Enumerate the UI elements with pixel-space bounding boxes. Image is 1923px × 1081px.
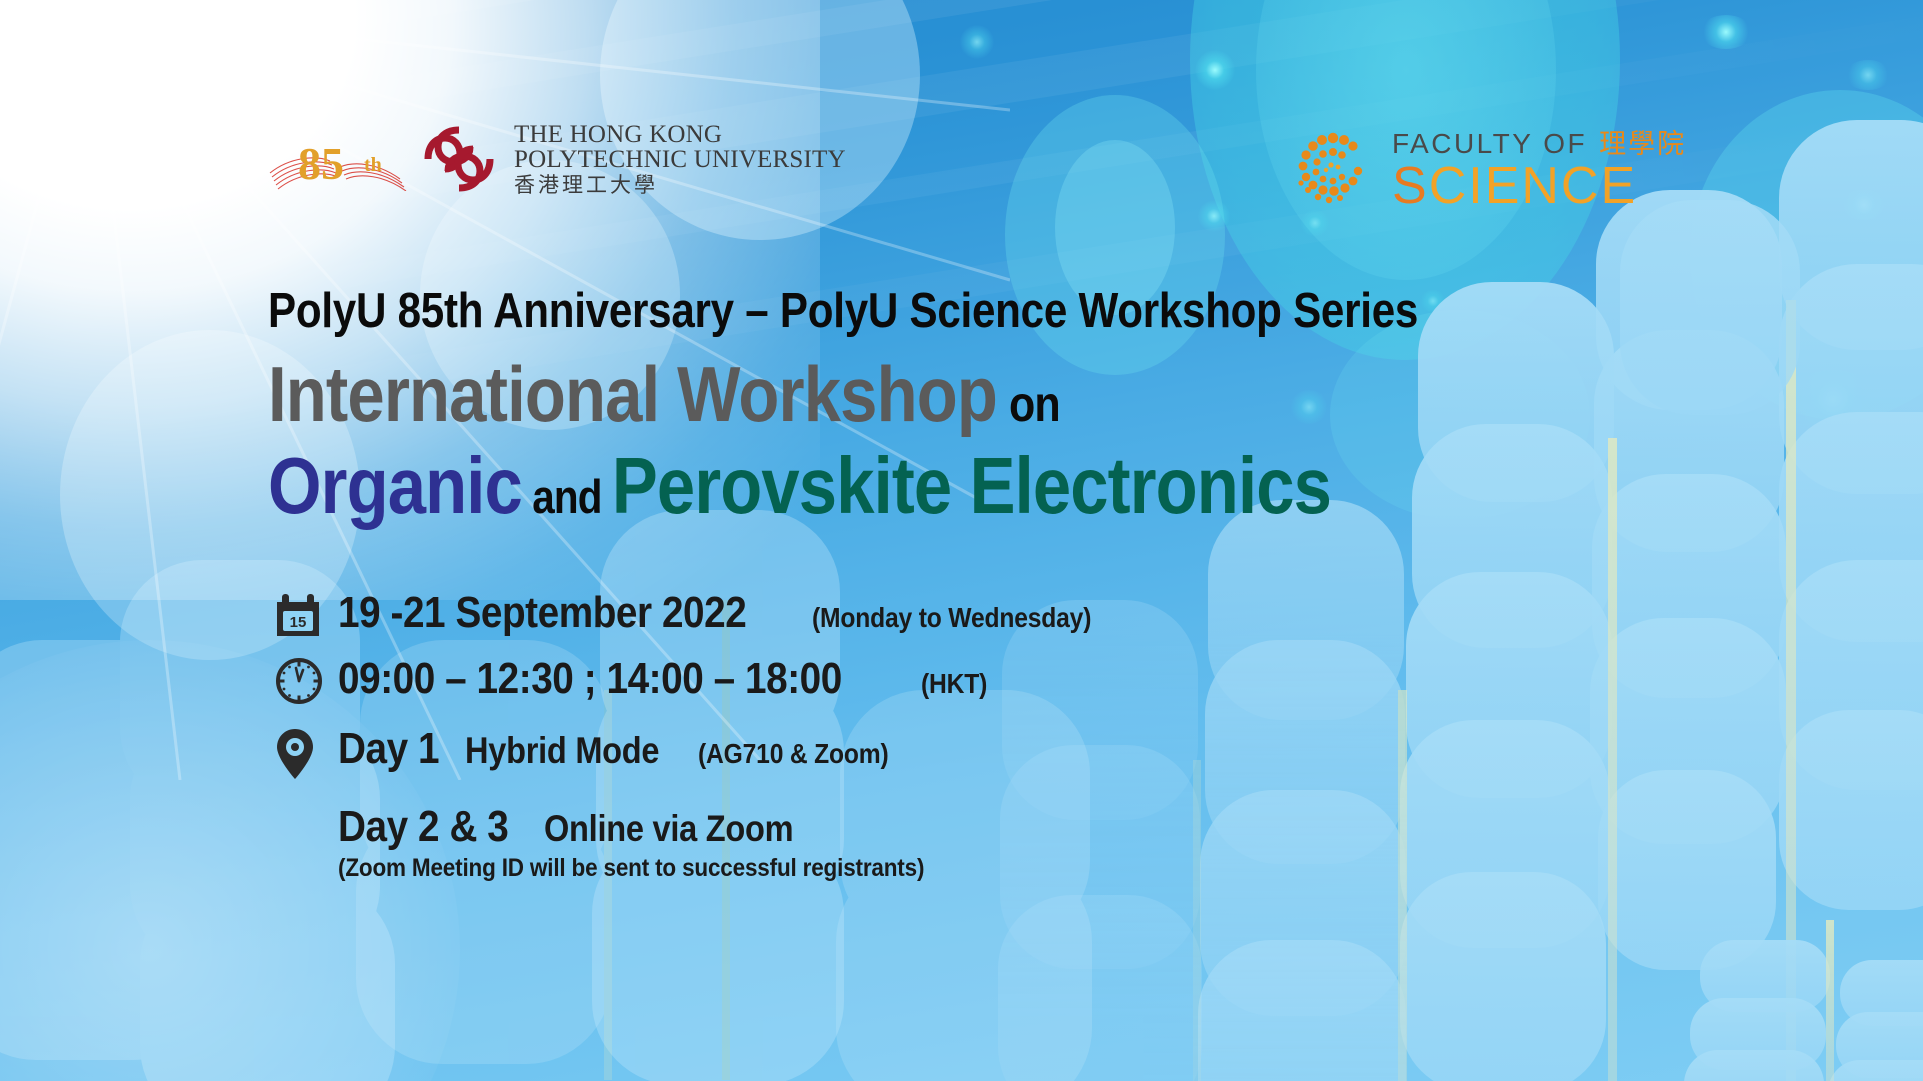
date-note: (Monday to Wednesday): [812, 602, 1091, 634]
time-note: (HKT): [921, 668, 987, 700]
polyu-knot-icon: [420, 123, 498, 195]
title-international-workshop: International Workshop: [268, 350, 997, 438]
workshop-title-line1: International Workshopon: [268, 349, 1060, 440]
time-value: 09:00 – 12:30 ; 14:00 – 18:00: [338, 654, 842, 704]
calendar-icon-wrap: 15: [276, 588, 338, 638]
venue-day23-note: (Zoom Meeting ID will be sent to success…: [338, 854, 924, 883]
venue-day23-note-text: (Zoom Meeting ID will be sent to success…: [338, 854, 989, 883]
location-icon-wrap: [276, 724, 338, 780]
title-on-word: on: [1009, 376, 1060, 432]
title-perovskite-electronics: Perovskite Electronics: [612, 441, 1331, 530]
polyu-name-line2: POLYTECHNIC UNIVERSITY: [514, 147, 846, 172]
polyu-name-line1: THE HONG KONG: [514, 122, 846, 147]
venue-day1-text: Day 1Hybrid Mode(AG710 & Zoom): [338, 724, 914, 774]
event-series-kicker: PolyU 85th Anniversary – PolyU Science W…: [268, 283, 1472, 339]
venue-day1-note: (AG710 & Zoom): [698, 738, 889, 770]
poster-canvas: 85 th THE HONG KONG POLYTECHNIC UNIVERSI…: [0, 0, 1923, 1081]
science-spiral-icon: [1290, 128, 1376, 214]
detail-row-venue-day1: Day 1Hybrid Mode(AG710 & Zoom): [276, 724, 1129, 780]
workshop-title-line2: OrganicandPerovskite Electronics: [268, 440, 1331, 532]
detail-row-venue-day23: Day 2 & 3Online via Zoom: [276, 802, 1129, 852]
clock-icon: [276, 658, 322, 704]
svg-text:85: 85: [298, 138, 344, 189]
faculty-of-science-chinese: 理學院: [1599, 131, 1686, 158]
polyu-name-chinese: 香港理工大學: [514, 175, 846, 196]
clock-icon-wrap: [276, 654, 338, 704]
venue-day1-mode: Hybrid Mode: [465, 730, 659, 772]
polyu-logo: 85 th THE HONG KONG POLYTECHNIC UNIVERSI…: [268, 122, 846, 196]
science-wordmark: SCIENCE: [1392, 160, 1686, 212]
detail-row-venue-day23-note: (Zoom Meeting ID will be sent to success…: [276, 854, 1129, 883]
polyu-85th-anniversary-icon: 85 th: [268, 127, 408, 191]
event-details: 15 19 -21 September 2022(Monday to Wedne…: [276, 588, 1129, 887]
venue-day23-text: Day 2 & 3Online via Zoom: [338, 802, 827, 852]
svg-text:th: th: [364, 154, 382, 176]
date-value: 19 -21 September 2022: [338, 588, 746, 638]
calendar-icon: 15: [276, 592, 320, 638]
location-pin-icon: [276, 728, 314, 780]
title-organic: Organic: [268, 441, 522, 530]
calendar-day-number: 15: [290, 614, 307, 631]
faculty-of-label: FACULTY OF: [1392, 130, 1587, 158]
venue-note-icon-spacer: [276, 854, 338, 858]
faculty-of-science-logo: FACULTY OF 理學院 SCIENCE: [1290, 128, 1686, 214]
venue-day23-mode: Online via Zoom: [544, 808, 793, 850]
title-and-word: and: [532, 470, 601, 523]
venue-day1-label: Day 1: [338, 724, 439, 774]
detail-row-time: 09:00 – 12:30 ; 14:00 – 18:00(HKT): [276, 654, 1129, 704]
detail-row-date: 15 19 -21 September 2022(Monday to Wedne…: [276, 588, 1129, 638]
venue-day23-icon-spacer: [276, 802, 338, 806]
time-text: 09:00 – 12:30 ; 14:00 – 18:00(HKT): [338, 654, 996, 704]
date-text: 19 -21 September 2022(Monday to Wednesda…: [338, 588, 1129, 638]
poster-content: 85 th THE HONG KONG POLYTECHNIC UNIVERSI…: [0, 0, 1923, 1081]
venue-day23-label: Day 2 & 3: [338, 802, 508, 852]
